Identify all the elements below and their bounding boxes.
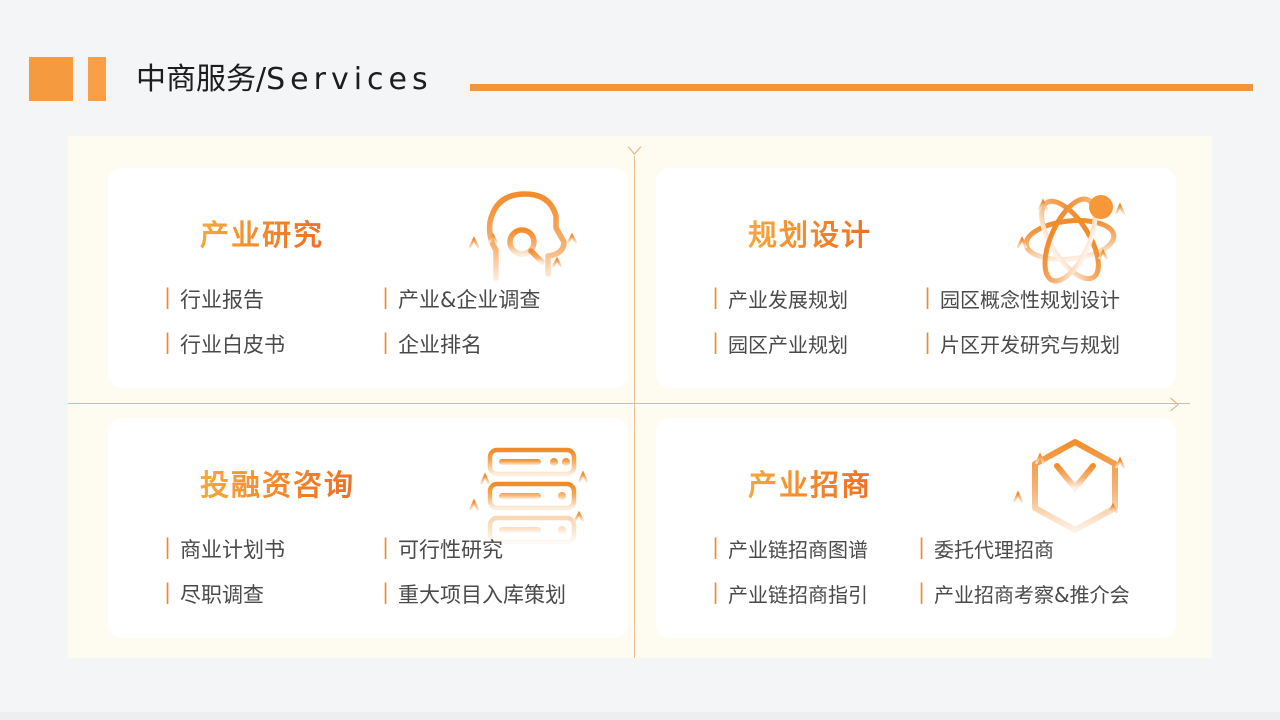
list-item-label: 行业报告 bbox=[180, 284, 264, 314]
service-card-planning-design[interactable]: 规划设计 bbox=[656, 168, 1176, 388]
card-title: 产业研究 bbox=[200, 212, 324, 254]
list-item-label: 片区开发研究与规划 bbox=[940, 329, 1120, 358]
bullet-icon: | bbox=[712, 582, 728, 603]
list-item-label: 产业链招商图谱 bbox=[728, 534, 868, 563]
page-title-separator: / bbox=[256, 62, 266, 97]
service-card-investment-consulting[interactable]: 投融资咨询 bbox=[108, 418, 628, 638]
card-item-list: | 行业报告 | 产业&企业调查 | 行业白皮书 | 企业排名 bbox=[164, 276, 620, 366]
list-item[interactable]: | 产业&企业调查 bbox=[382, 284, 620, 314]
list-row: | 园区产业规划 | 片区开发研究与规划 bbox=[712, 321, 1168, 366]
card-title: 产业招商 bbox=[748, 462, 872, 504]
list-item-label: 尽职调查 bbox=[180, 579, 264, 609]
list-item[interactable]: | 片区开发研究与规划 bbox=[924, 329, 1168, 358]
list-item[interactable]: | 行业白皮书 bbox=[164, 329, 382, 359]
list-item[interactable]: | 尽职调查 bbox=[164, 579, 382, 609]
axis-vertical-arrow-icon bbox=[626, 154, 643, 167]
bullet-icon: | bbox=[918, 537, 934, 558]
list-item[interactable]: | 园区概念性规划设计 bbox=[924, 284, 1168, 313]
bullet-icon: | bbox=[164, 332, 180, 353]
list-item-label: 产业&企业调查 bbox=[398, 284, 540, 314]
list-item-label: 园区产业规划 bbox=[728, 329, 848, 358]
bullet-icon: | bbox=[712, 287, 728, 308]
service-card-investment-promotion[interactable]: 产业招商 bbox=[656, 418, 1176, 638]
list-item[interactable]: | 商业计划书 bbox=[164, 534, 382, 564]
list-item-label: 重大项目入库策划 bbox=[398, 579, 566, 609]
bullet-icon: | bbox=[382, 287, 398, 308]
list-item[interactable]: | 产业链招商图谱 bbox=[712, 534, 918, 563]
header-square-large-icon bbox=[29, 57, 73, 101]
card-title: 规划设计 bbox=[748, 212, 872, 254]
list-item[interactable]: | 委托代理招商 bbox=[918, 534, 1168, 563]
bullet-icon: | bbox=[382, 332, 398, 353]
page-title-cn: 中商服务 bbox=[136, 62, 256, 97]
axis-vertical-line bbox=[634, 156, 635, 658]
list-item[interactable]: | 可行性研究 bbox=[382, 534, 620, 564]
list-item[interactable]: | 企业排名 bbox=[382, 329, 620, 359]
bullet-icon: | bbox=[382, 582, 398, 603]
axis-horizontal-line bbox=[68, 403, 1190, 404]
card-item-list: | 产业发展规划 | 园区概念性规划设计 | 园区产业规划 | 片区开发研究与规… bbox=[712, 276, 1168, 366]
list-item-label: 产业链招商指引 bbox=[728, 579, 868, 608]
header-rule-divider bbox=[470, 84, 1253, 91]
list-row: | 产业发展规划 | 园区概念性规划设计 bbox=[712, 276, 1168, 321]
list-item-label: 委托代理招商 bbox=[934, 534, 1054, 563]
list-row: | 行业报告 | 产业&企业调查 bbox=[164, 276, 620, 321]
list-item-label: 产业发展规划 bbox=[728, 284, 848, 313]
list-item[interactable]: | 产业链招商指引 bbox=[712, 579, 918, 608]
services-panel: 产业研究 bbox=[68, 136, 1212, 658]
list-item[interactable]: | 园区产业规划 bbox=[712, 329, 924, 358]
bullet-icon: | bbox=[712, 332, 728, 353]
bottom-strip bbox=[0, 712, 1280, 720]
list-item[interactable]: | 产业招商考察&推介会 bbox=[918, 579, 1168, 608]
list-item-label: 可行性研究 bbox=[398, 534, 503, 564]
page-header: 中商服务/Services bbox=[0, 0, 1280, 136]
list-row: | 尽职调查 | 重大项目入库策划 bbox=[164, 571, 620, 616]
list-item-label: 商业计划书 bbox=[180, 534, 285, 564]
list-item[interactable]: | 产业发展规划 bbox=[712, 284, 924, 313]
list-row: | 商业计划书 | 可行性研究 bbox=[164, 526, 620, 571]
list-item-label: 产业招商考察&推介会 bbox=[934, 579, 1130, 608]
list-item-label: 行业白皮书 bbox=[180, 329, 285, 359]
bullet-icon: | bbox=[924, 332, 940, 353]
bullet-icon: | bbox=[712, 537, 728, 558]
list-item[interactable]: | 行业报告 bbox=[164, 284, 382, 314]
service-card-industry-research[interactable]: 产业研究 bbox=[108, 168, 628, 388]
bullet-icon: | bbox=[382, 537, 398, 558]
bullet-icon: | bbox=[164, 537, 180, 558]
list-row: | 产业链招商指引 | 产业招商考察&推介会 bbox=[712, 571, 1168, 616]
card-item-list: | 商业计划书 | 可行性研究 | 尽职调查 | 重大项目入库策划 bbox=[164, 526, 620, 616]
bullet-icon: | bbox=[164, 582, 180, 603]
list-item-label: 园区概念性规划设计 bbox=[940, 284, 1120, 313]
card-title: 投融资咨询 bbox=[200, 462, 355, 504]
list-item[interactable]: | 重大项目入库策划 bbox=[382, 579, 620, 609]
list-item-label: 企业排名 bbox=[398, 329, 482, 359]
bullet-icon: | bbox=[924, 287, 940, 308]
list-row: | 产业链招商图谱 | 委托代理招商 bbox=[712, 526, 1168, 571]
axis-horizontal-arrow-icon bbox=[1178, 396, 1191, 413]
page-title-en: Services bbox=[266, 62, 433, 97]
header-square-small-icon bbox=[88, 57, 106, 101]
bullet-icon: | bbox=[918, 582, 934, 603]
bullet-icon: | bbox=[164, 287, 180, 308]
page-title: 中商服务/Services bbox=[136, 58, 433, 102]
card-item-list: | 产业链招商图谱 | 委托代理招商 | 产业链招商指引 | 产业招商考察&推介… bbox=[712, 526, 1168, 616]
list-row: | 行业白皮书 | 企业排名 bbox=[164, 321, 620, 366]
